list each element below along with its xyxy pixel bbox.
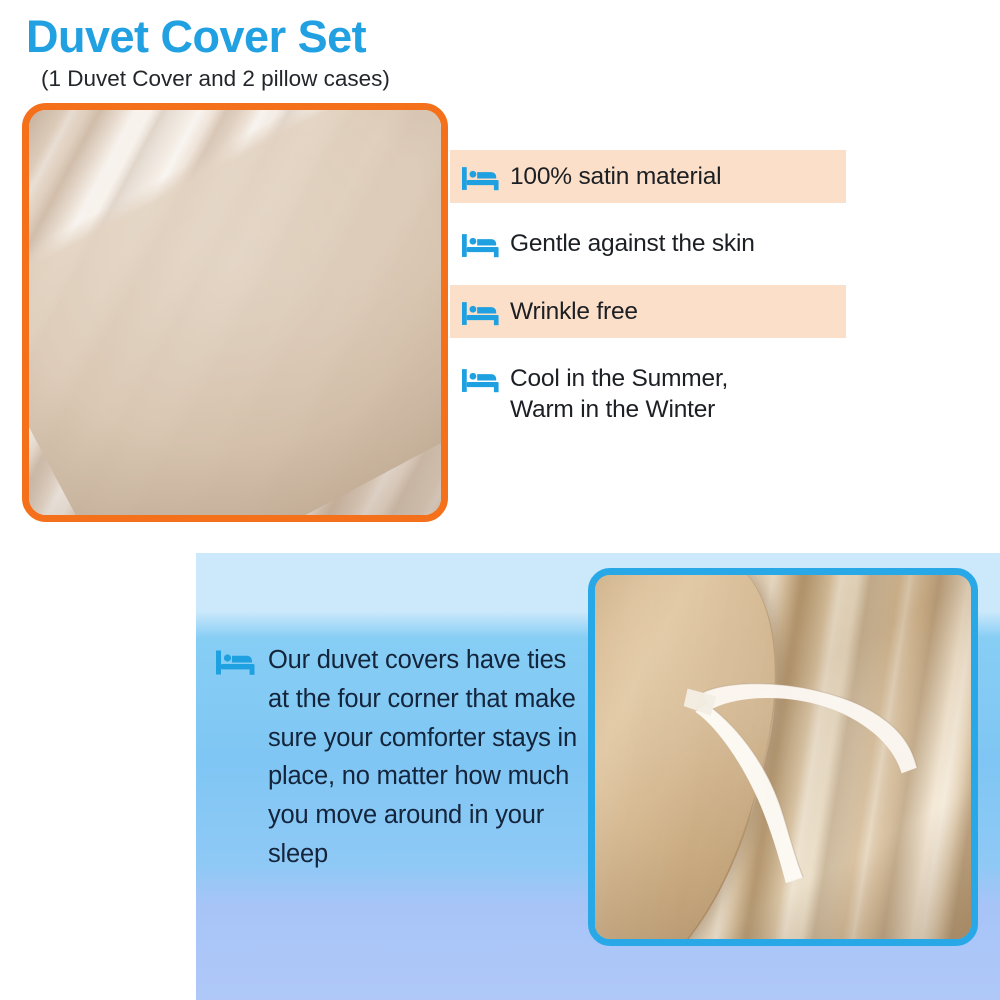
bed-icon [462,233,500,259]
fabric-photo [22,103,448,522]
feature-label: Wrinkle free [510,296,638,327]
feature-item-cool-summer-warm-winter: Cool in the Summer, Warm in the Winter [450,352,846,437]
tie-photo-image [595,575,971,939]
page-title: Duvet Cover Set [26,14,366,59]
feature-label: Gentle against the skin [510,228,755,259]
fabric-photo-image [29,110,441,515]
header: Duvet Cover Set (1 Duvet Cover and 2 pil… [0,0,470,100]
tie-photo [588,568,978,946]
tie-description-text: Our duvet covers have ties at the four c… [268,641,588,874]
bed-icon [462,368,500,394]
feature-list: 100% satin material Gentle against the s… [450,150,850,451]
feature-label: 100% satin material [510,161,721,192]
satin-vignette [595,575,971,939]
feature-label: Cool in the Summer, Warm in the Winter [510,363,728,426]
tie-description: Our duvet covers have ties at the four c… [216,641,588,874]
feature-item-wrinkle-free: Wrinkle free [450,285,846,338]
feature-item-satin-material: 100% satin material [450,150,846,203]
bed-icon [462,166,500,192]
bed-icon [462,301,500,327]
feature-item-gentle-skin: Gentle against the skin [450,217,846,270]
satin-vignette [29,110,441,515]
bed-icon [216,649,256,677]
page-subtitle: (1 Duvet Cover and 2 pillow cases) [41,68,390,91]
